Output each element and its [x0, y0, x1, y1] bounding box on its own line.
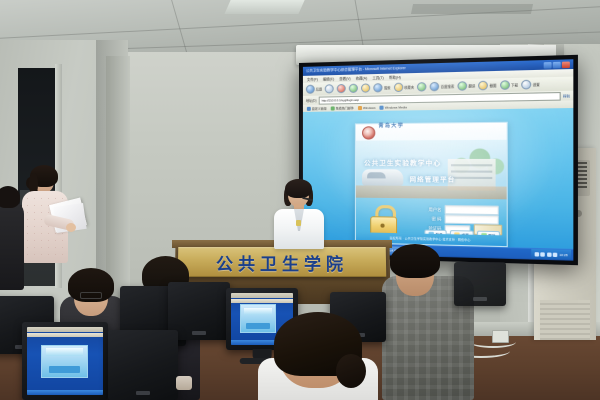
window-controls[interactable] — [544, 61, 570, 68]
presenter-hair — [285, 179, 312, 198]
ime-icon[interactable] — [547, 252, 552, 256]
monitor-toolbar — [231, 299, 293, 303]
media-icon — [380, 105, 384, 109]
audience-member-5 — [0, 200, 24, 290]
download-icon — [500, 80, 510, 90]
window-icon — [358, 105, 362, 109]
monitor-titlebar — [231, 293, 293, 298]
quick-link-mail[interactable]: 免费热门邮件 — [331, 106, 354, 110]
capture-button[interactable]: 截图 — [479, 81, 497, 91]
forward-button[interactable] — [325, 84, 334, 93]
login-card: 青岛大学 QINGDAO UNIVERSITY 公共卫生实验教学中心 网络管理平… — [355, 122, 508, 247]
volume-icon[interactable] — [534, 252, 539, 256]
audience-member-5-hair — [0, 186, 20, 208]
banner-sky — [356, 140, 507, 200]
footer-text: 版权所有 · 公共卫生学院实验教学中心 技术支持 · 网络中心 — [390, 236, 471, 242]
university-seal-icon — [362, 126, 375, 139]
quick-link-media[interactable]: Windows Media — [380, 105, 407, 110]
monitor-toolbar — [27, 333, 103, 337]
woman-holding-papers — [14, 165, 84, 285]
captcha-input[interactable] — [445, 224, 471, 234]
password-label: 密 码 — [418, 215, 441, 222]
search-icon — [374, 83, 383, 92]
presenter-in-lab-coat — [272, 182, 326, 248]
settings-button[interactable]: 设置 — [521, 80, 539, 90]
projection-screen: 公共卫生实验教学中心综合管理平台 - Microsoft Internet Ex… — [299, 55, 578, 265]
favorites-button[interactable]: 收藏夹 — [394, 82, 414, 92]
password-input[interactable] — [445, 214, 499, 224]
home-icon — [361, 83, 370, 92]
mail-icon — [331, 106, 335, 110]
menu-tools[interactable]: 工具(T) — [372, 75, 383, 80]
banner-trees — [443, 144, 504, 180]
taskbar-clock: 10:28 — [559, 252, 567, 257]
go-button[interactable]: 转到 — [563, 93, 570, 99]
address-label: 地址(D) — [306, 98, 317, 103]
media-button[interactable] — [417, 82, 427, 92]
username-label: 用户名 — [418, 206, 441, 213]
lecture-hall-photo: 公共卫生实验教学中心综合管理平台 - Microsoft Internet Ex… — [0, 0, 600, 400]
stop-icon — [337, 84, 346, 93]
help-icon — [481, 233, 486, 238]
login-panel: 用户名 密 码 验证码 登录 — [356, 198, 507, 236]
captcha-row: 验证码 — [418, 223, 502, 235]
login-icon — [429, 232, 434, 237]
hair-accessory — [176, 376, 192, 390]
stop-button[interactable] — [337, 84, 346, 93]
podium-sign: 公共卫生学院 — [178, 247, 387, 277]
username-row: 用户名 — [418, 205, 499, 216]
presenter-badge — [296, 220, 301, 226]
monitor-titlebar — [27, 327, 103, 332]
menu-view[interactable]: 查看(V) — [339, 76, 350, 81]
padlock-icon — [370, 205, 395, 236]
ac-lower-grille — [540, 300, 590, 340]
media-icon — [417, 82, 427, 92]
network-icon[interactable] — [541, 252, 546, 256]
star-icon — [394, 83, 403, 92]
menu-file[interactable]: 文件(F) — [307, 77, 318, 82]
password-row: 密 码 — [418, 214, 499, 225]
banner-headline-1: 公共卫生实验教学中心 — [364, 158, 441, 167]
banner-headline-2: 网络管理平台 — [410, 174, 456, 184]
minimize-icon[interactable] — [544, 61, 552, 68]
quick-link-custom[interactable]: 自定义链接 — [307, 106, 327, 110]
back-button[interactable]: 后退 — [306, 84, 322, 93]
banner-image: 公共卫生实验教学中心 网络管理平台 — [356, 140, 507, 200]
banner-road — [356, 185, 507, 199]
recessed-ceiling-light-icon — [224, 0, 305, 14]
university-name-en: QINGDAO UNIVERSITY — [378, 145, 408, 147]
audience-member-4-hair — [390, 244, 440, 278]
hair-bun — [336, 354, 366, 388]
menu-help[interactable]: 帮助(H) — [389, 74, 401, 79]
download-button[interactable]: 下载 — [500, 80, 518, 90]
reset-button[interactable]: 重置 — [450, 230, 473, 240]
login-buttons: 登录 重置 帮助 — [424, 230, 500, 241]
login-button[interactable]: 登录 — [424, 230, 447, 240]
capture-icon — [479, 81, 489, 91]
gear-icon — [521, 80, 531, 90]
username-input[interactable] — [445, 205, 499, 215]
menu-favorites[interactable]: 收藏(A) — [356, 75, 368, 80]
university-name-cn: 青岛大学 — [378, 123, 404, 129]
website-page: 青岛大学 QINGDAO UNIVERSITY 公共卫生实验教学中心 网络管理平… — [303, 108, 573, 249]
banner-building — [448, 159, 496, 191]
refresh-icon — [349, 84, 358, 93]
monitor-back-4 — [108, 330, 178, 400]
monitor-front-left[interactable] — [22, 322, 108, 400]
monitor-front-left-screen — [27, 327, 103, 395]
monitor-back-6 — [454, 262, 506, 306]
captcha-image[interactable] — [474, 224, 503, 235]
menu-edit[interactable]: 编辑(E) — [323, 76, 334, 81]
translate-button[interactable]: 翻译 — [458, 81, 476, 91]
podium-sign-text: 公共卫生学院 — [216, 250, 348, 275]
antivirus-icon[interactable] — [553, 252, 558, 256]
projection-surface: 公共卫生实验教学中心综合管理平台 - Microsoft Internet Ex… — [303, 59, 573, 260]
address-value: http://210.0.0.1/sygl/login.asp — [322, 97, 359, 102]
system-tray[interactable]: 10:28 — [531, 249, 571, 260]
link-icon — [307, 106, 311, 110]
site-header: 青岛大学 QINGDAO UNIVERSITY — [356, 123, 507, 141]
monitor-taskbar — [27, 390, 103, 395]
search-button[interactable]: 搜索 — [374, 83, 391, 93]
close-icon[interactable] — [562, 61, 570, 68]
ceiling-vent — [411, 4, 533, 14]
forward-arrow-icon — [325, 84, 334, 93]
captcha-label: 验证码 — [418, 225, 441, 232]
monitor-login-page — [240, 304, 277, 333]
baidu-icon — [430, 82, 440, 92]
baidu-search-button[interactable]: 百度搜索 — [430, 81, 454, 91]
help-button[interactable]: 帮助 — [476, 231, 499, 241]
maximize-icon[interactable] — [553, 61, 561, 68]
black-office-chair-back[interactable] — [0, 0, 43, 64]
reset-icon — [455, 232, 460, 237]
monitor-content — [41, 345, 89, 378]
translate-icon — [458, 81, 468, 91]
refresh-button[interactable] — [349, 84, 358, 93]
banner-vehicle — [362, 169, 403, 186]
quick-link-windows[interactable]: Windows — [358, 105, 376, 109]
home-button[interactable] — [361, 83, 370, 92]
eyeglasses-icon — [80, 292, 102, 299]
back-arrow-icon — [306, 85, 315, 94]
